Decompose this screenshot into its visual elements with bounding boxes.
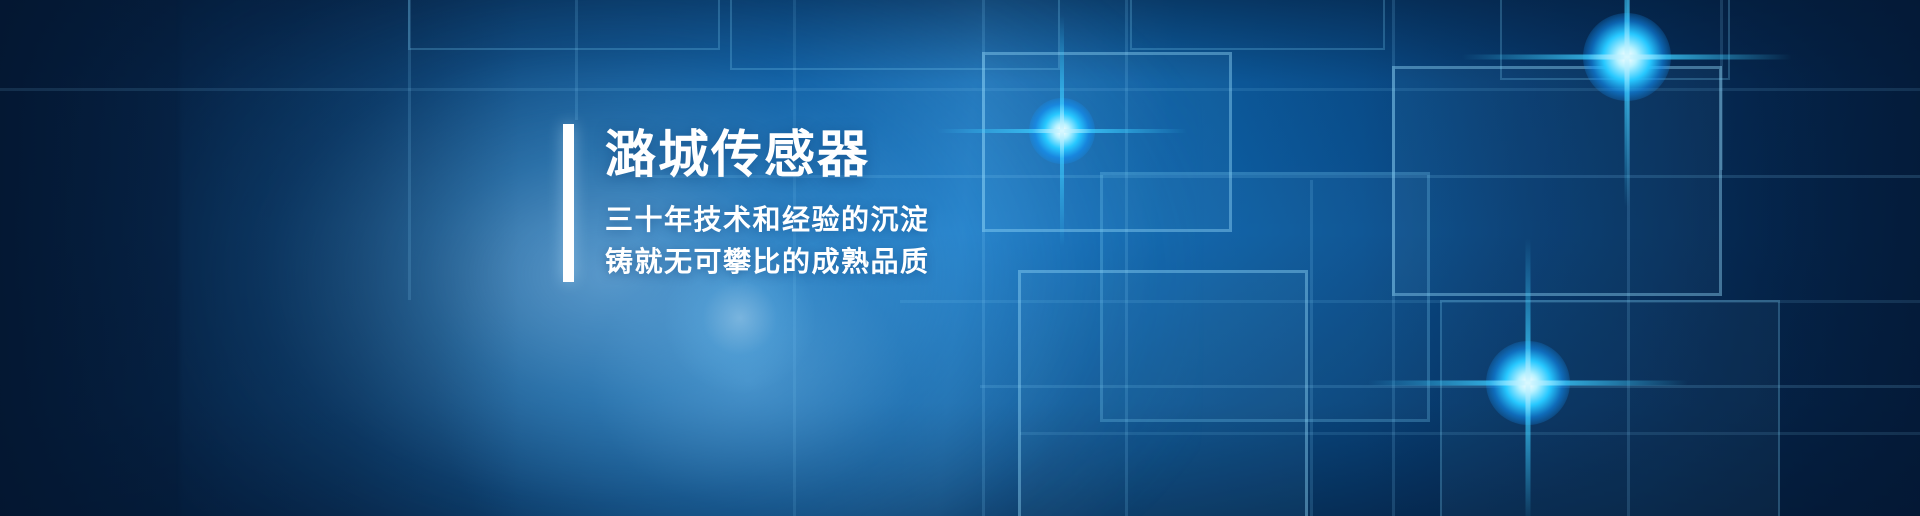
rect-top-left-outline [408,0,720,50]
rect-upper-right-a [1130,0,1385,50]
geometric-shapes [0,0,1920,516]
rect-bottom-right [1440,300,1780,516]
subtitle-line-1: 三十年技术和经验的沉淀 [605,199,930,240]
subtitle-line-2: 铸就无可攀比的成熟品质 [605,241,930,282]
rect-upper-right-b [1392,66,1722,296]
hero-text-column: 潞城传感器 三十年技术和经验的沉淀 铸就无可攀比的成熟品质 [605,124,930,282]
rect-top-far-right [1500,0,1730,80]
hero-banner: 潞城传感器 三十年技术和经验的沉淀 铸就无可攀比的成熟品质 [0,0,1920,516]
hero-text-block: 潞城传感器 三十年技术和经验的沉淀 铸就无可攀比的成熟品质 [563,124,930,282]
rect-bottom-center [1018,270,1308,516]
page-title: 潞城传感器 [605,126,930,183]
accent-bar [563,124,574,282]
